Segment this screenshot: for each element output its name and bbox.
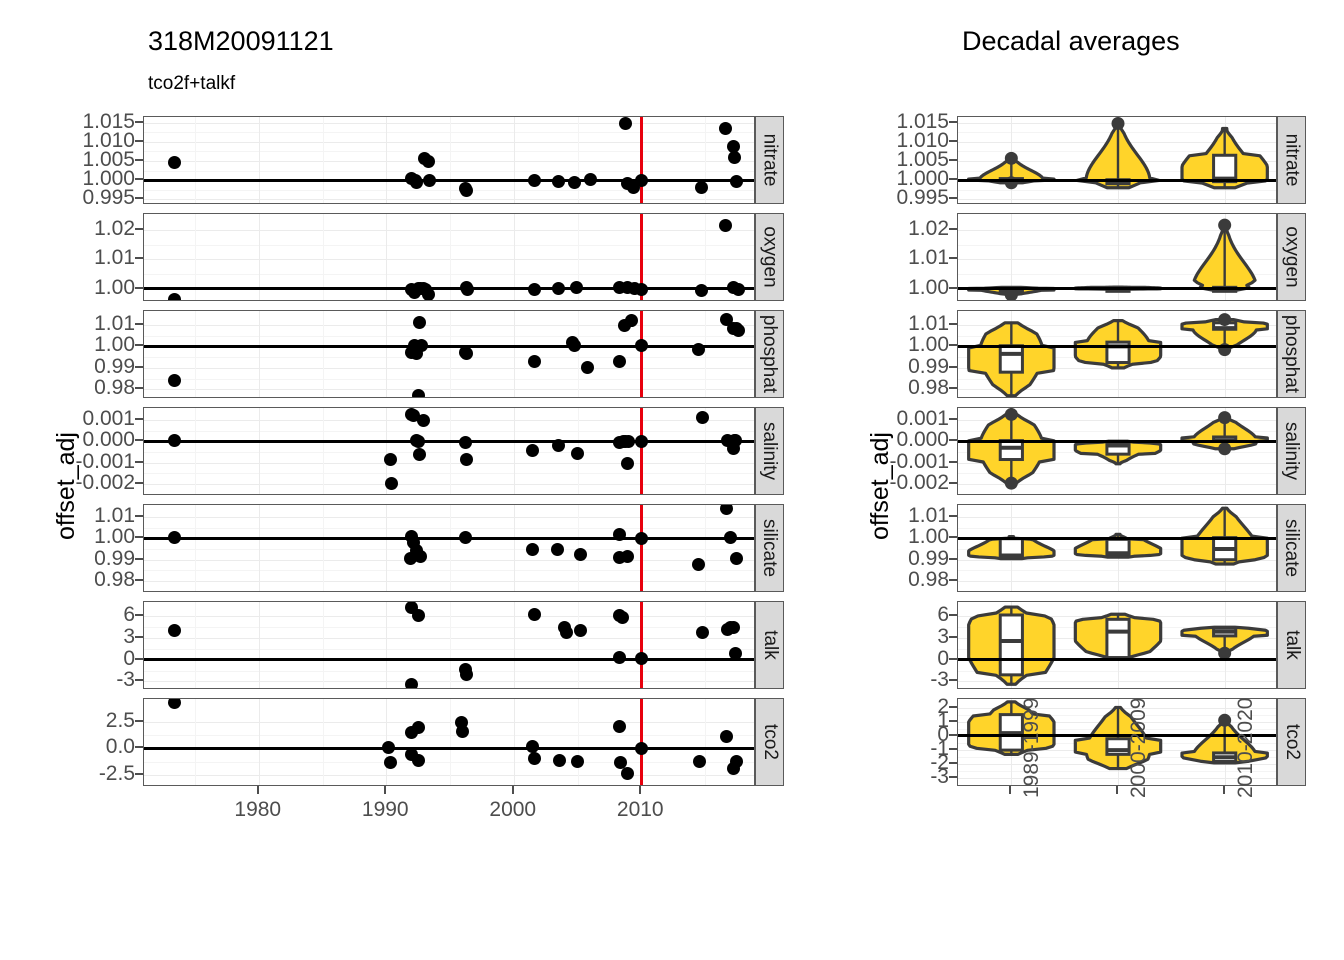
y-tick-mark [949, 418, 957, 420]
data-point [528, 608, 541, 621]
y-tick-label: -0.002 [839, 471, 949, 495]
strip-label-text: tco2 [1281, 724, 1303, 760]
y-tick-label: 0.98 [25, 376, 135, 400]
y-tick-label: 0.99 [839, 547, 949, 571]
grid-line-vertical [259, 117, 260, 203]
data-point [422, 155, 435, 168]
grid-line-horizontal [144, 325, 754, 326]
data-point [551, 543, 564, 556]
highlight-year-line [640, 311, 643, 397]
y-tick-label: 3 [839, 625, 949, 649]
x-tick-mark [384, 786, 386, 794]
y-tick-mark [135, 482, 143, 484]
grid-line-vertical-minor [450, 311, 451, 397]
y-tick-label: 2.5 [25, 709, 135, 733]
strip-label-salinity-decadal: salinity [1277, 407, 1306, 495]
figure-root: 318M20091121 tco2f+talkf Decadal average… [0, 0, 1344, 960]
reference-line [144, 747, 754, 750]
data-point [385, 477, 398, 490]
data-point [460, 184, 473, 197]
y-tick-label: 0 [839, 647, 949, 671]
data-point [459, 531, 472, 544]
y-tick-label: 0.000 [25, 428, 135, 452]
data-point [581, 361, 594, 374]
violin-nitrate-2000-2009 [1077, 117, 1159, 188]
data-point [613, 720, 626, 733]
grid-line-vertical [259, 602, 260, 688]
grid-line-vertical-minor [195, 408, 196, 494]
data-point [168, 374, 181, 387]
grid-line-vertical [259, 408, 260, 494]
data-point [415, 339, 428, 352]
grid-line-horizontal [144, 259, 754, 260]
reference-line [144, 658, 754, 661]
data-point [552, 282, 565, 295]
x-tick-label: 1980 [234, 798, 281, 822]
grid-line-vertical [514, 408, 515, 494]
data-point [584, 173, 597, 186]
reference-line [958, 287, 1276, 290]
reference-line [144, 179, 754, 182]
y-tick-label: 1.01 [25, 312, 135, 336]
y-tick-label: 1.02 [25, 217, 135, 241]
grid-line-horizontal-minor [144, 473, 754, 474]
data-point [613, 355, 626, 368]
data-point [732, 283, 745, 296]
grid-line-vertical-minor [578, 117, 579, 203]
grid-line-horizontal [144, 142, 754, 143]
data-point [168, 434, 181, 447]
data-point [635, 652, 648, 665]
grid-line-horizontal [144, 681, 754, 682]
violin-group-tco2 [958, 699, 1277, 786]
data-point [730, 552, 743, 565]
boxplot-box [1107, 619, 1129, 657]
data-point [412, 435, 425, 448]
strip-label-text: phosphat [759, 315, 781, 393]
y-tick-mark [949, 706, 957, 708]
y-tick-label: 0.99 [25, 547, 135, 571]
grid-line-vertical [514, 505, 515, 591]
y-tick-label: 0.99 [839, 355, 949, 379]
y-tick-label: -3 [839, 668, 949, 692]
y-tick-mark [949, 558, 957, 560]
violin-salinity-2000-2009 [1075, 441, 1160, 464]
grid-line-horizontal [144, 484, 754, 485]
y-tick-mark [949, 536, 957, 538]
reference-line [958, 537, 1276, 540]
grid-line-horizontal [144, 463, 754, 464]
data-point [382, 741, 395, 754]
grid-line-horizontal [144, 368, 754, 369]
right-panel-title: Decadal averages [962, 26, 1180, 57]
y-tick-label: 1.01 [839, 312, 949, 336]
outlier-point [1112, 117, 1125, 130]
y-tick-label: -3 [839, 765, 949, 789]
data-point [423, 174, 436, 187]
data-point [528, 752, 541, 765]
grid-line-horizontal-minor [144, 151, 754, 152]
grid-line-horizontal [144, 199, 754, 200]
violin-talk-2000-2009 [1075, 614, 1160, 658]
grid-line-horizontal-minor [144, 245, 754, 246]
y-tick-mark [135, 679, 143, 681]
data-point [168, 156, 181, 169]
data-point [729, 647, 742, 660]
grid-line-horizontal [144, 161, 754, 162]
data-point [692, 343, 705, 356]
data-point [528, 174, 541, 187]
data-point [552, 175, 565, 188]
strip-label-talk-timeseries: talk [755, 601, 784, 689]
grid-line-vertical-minor [195, 117, 196, 203]
data-point [727, 621, 740, 634]
reference-line [958, 734, 1276, 737]
y-tick-mark [949, 366, 957, 368]
plot-panel-silicate-decadal [957, 504, 1277, 592]
grid-line-vertical-minor [705, 602, 706, 688]
grid-line-horizontal [144, 420, 754, 421]
boxplot-box [1000, 615, 1022, 675]
data-point [574, 624, 587, 637]
grid-line-horizontal-minor [144, 549, 754, 550]
strip-label-phosphat-timeseries: phosphat [755, 310, 784, 398]
grid-line-horizontal-minor [144, 379, 754, 380]
y-tick-mark [135, 197, 143, 199]
data-point [728, 151, 741, 164]
y-tick-label: -0.001 [25, 450, 135, 474]
y-tick-label: 6 [839, 603, 949, 627]
y-tick-mark [949, 344, 957, 346]
grid-line-vertical-minor [323, 117, 324, 203]
y-tick-mark [949, 614, 957, 616]
data-point [560, 626, 573, 639]
data-point [635, 532, 648, 545]
grid-line-vertical-minor [450, 408, 451, 494]
strip-label-silicate-decadal: silicate [1277, 504, 1306, 592]
data-point [413, 448, 426, 461]
y-tick-mark [135, 121, 143, 123]
grid-line-horizontal [144, 638, 754, 639]
outlier-point [1218, 219, 1231, 232]
data-point [720, 504, 733, 515]
plot-panel-nitrate-decadal [957, 116, 1277, 204]
grid-line-vertical [259, 699, 260, 785]
data-point [570, 281, 583, 294]
y-tick-mark [135, 140, 143, 142]
grid-line-horizontal [144, 560, 754, 561]
y-tick-label: 0.995 [25, 186, 135, 210]
grid-line-horizontal-minor [144, 735, 754, 736]
data-point [635, 174, 648, 187]
strip-label-text: salinity [759, 422, 781, 480]
violin-group-silicate [958, 505, 1277, 592]
y-tick-mark [949, 228, 957, 230]
y-tick-label: 0.000 [839, 428, 949, 452]
y-tick-mark [135, 159, 143, 161]
grid-line-vertical-minor [323, 311, 324, 397]
plot-panel-oxygen-timeseries [143, 213, 755, 301]
grid-line-horizontal-minor [144, 452, 754, 453]
data-point [621, 550, 634, 563]
outlier-point [1005, 288, 1018, 301]
data-point [635, 435, 648, 448]
highlight-year-line [640, 602, 643, 688]
grid-line-vertical-minor [578, 311, 579, 397]
strip-label-phosphat-decadal: phosphat [1277, 310, 1306, 398]
strip-label-talk-decadal: talk [1277, 601, 1306, 689]
grid-line-vertical-minor [578, 602, 579, 688]
grid-line-horizontal-minor [144, 649, 754, 650]
violin-silicate-1989-1999 [969, 537, 1054, 559]
plot-panel-tco2-decadal [957, 698, 1277, 786]
outlier-point [1218, 411, 1231, 424]
y-tick-mark [949, 734, 957, 736]
outlier-point [1005, 152, 1018, 165]
y-tick-mark [135, 536, 143, 538]
data-point [568, 339, 581, 352]
plot-panel-silicate-timeseries [143, 504, 755, 592]
data-point [622, 435, 635, 448]
data-point [456, 725, 469, 738]
strip-label-salinity-timeseries: salinity [755, 407, 784, 495]
strip-label-silicate-timeseries: silicate [755, 504, 784, 592]
data-point [526, 444, 539, 457]
plot-panel-phosphat-decadal [957, 310, 1277, 398]
boxplot-box [1000, 346, 1022, 372]
y-tick-label: 6 [25, 603, 135, 627]
y-tick-mark [949, 679, 957, 681]
y-tick-mark [135, 418, 143, 420]
data-point [719, 219, 732, 232]
plot-panel-talk-decadal [957, 601, 1277, 689]
y-tick-mark [949, 461, 957, 463]
y-tick-mark [949, 121, 957, 123]
grid-line-horizontal-minor [144, 336, 754, 337]
x-tick-mark [1009, 786, 1011, 794]
strip-label-text: talk [1281, 630, 1303, 660]
grid-line-horizontal-minor [144, 132, 754, 133]
plot-panel-salinity-timeseries [143, 407, 755, 495]
grid-line-horizontal-minor [144, 190, 754, 191]
y-tick-mark [135, 636, 143, 638]
outlier-point [1218, 313, 1231, 326]
data-point [613, 528, 626, 541]
plot-panel-phosphat-timeseries [143, 310, 755, 398]
y-tick-mark [135, 614, 143, 616]
data-point [168, 698, 181, 709]
grid-line-vertical-minor [323, 602, 324, 688]
data-point [635, 742, 648, 755]
grid-line-vertical-minor [323, 505, 324, 591]
y-tick-mark [949, 636, 957, 638]
reference-line [144, 287, 754, 290]
violin-talk-2010-2020 [1182, 627, 1267, 659]
grid-line-vertical-minor [195, 505, 196, 591]
data-point [413, 316, 426, 329]
outlier-point [1005, 408, 1018, 421]
grid-line-horizontal [144, 123, 754, 124]
data-point [422, 288, 435, 301]
grid-line-horizontal [144, 230, 754, 231]
strip-label-text: salinity [1281, 422, 1303, 480]
data-point [732, 324, 745, 337]
y-tick-label: 3 [25, 625, 135, 649]
y-tick-mark [949, 515, 957, 517]
data-point [720, 730, 733, 743]
y-tick-mark [949, 140, 957, 142]
grid-line-horizontal-minor [144, 274, 754, 275]
data-point [526, 543, 539, 556]
data-point [405, 678, 418, 689]
y-tick-label: -2.5 [25, 762, 135, 786]
y-tick-mark [135, 579, 143, 581]
data-point [553, 754, 566, 767]
left-panel-title: 318M20091121 [148, 26, 334, 57]
data-point [410, 176, 423, 189]
grid-line-vertical [386, 311, 387, 397]
y-tick-label: 1.01 [839, 504, 949, 528]
y-tick-mark [135, 720, 143, 722]
y-tick-label: -3 [25, 668, 135, 692]
data-point [730, 175, 743, 188]
plot-panel-salinity-decadal [957, 407, 1277, 495]
violin-phosphat-1989-1999 [969, 323, 1054, 396]
grid-line-horizontal-minor [144, 431, 754, 432]
data-point [526, 740, 539, 753]
violin-salinity-1989-1999 [969, 408, 1054, 490]
y-tick-mark [135, 323, 143, 325]
data-point [459, 436, 472, 449]
grid-line-vertical [514, 311, 515, 397]
grid-line-horizontal [144, 581, 754, 582]
grid-line-vertical [514, 699, 515, 785]
x-tick-label: 2000 [489, 798, 536, 822]
grid-line-vertical-minor [323, 408, 324, 494]
plot-panel-talk-timeseries [143, 601, 755, 689]
data-point [625, 314, 638, 327]
data-point [528, 283, 541, 296]
violin-phosphat-2010-2020 [1182, 313, 1267, 356]
y-tick-label: 0.0 [25, 735, 135, 759]
data-point [168, 293, 181, 301]
y-tick-mark [135, 746, 143, 748]
y-tick-label: 1.00 [839, 525, 949, 549]
y-tick-label: 0.001 [25, 407, 135, 431]
grid-line-vertical [514, 117, 515, 203]
data-point [460, 668, 473, 681]
y-tick-label: 0.98 [839, 568, 949, 592]
grid-line-vertical-minor [323, 699, 324, 785]
plot-panel-oxygen-decadal [957, 213, 1277, 301]
data-point [168, 531, 181, 544]
y-tick-label: 1.00 [839, 333, 949, 357]
y-tick-mark [949, 579, 957, 581]
y-tick-mark [135, 558, 143, 560]
y-tick-label: 1.00 [839, 276, 949, 300]
y-tick-label: 1.00 [25, 333, 135, 357]
y-tick-label: 0.99 [25, 355, 135, 379]
grid-line-horizontal [144, 616, 754, 617]
y-tick-label: -0.002 [25, 471, 135, 495]
grid-line-vertical-minor [450, 117, 451, 203]
violin-salinity-2010-2020 [1182, 411, 1267, 455]
grid-line-horizontal-minor [144, 528, 754, 529]
grid-line-horizontal-minor [144, 762, 754, 763]
strip-label-oxygen-decadal: oxygen [1277, 213, 1306, 301]
grid-line-vertical [386, 117, 387, 203]
violin-talk-1989-1999 [969, 607, 1054, 684]
strip-label-text: oxygen [1281, 226, 1303, 287]
y-tick-mark [135, 515, 143, 517]
data-point [695, 181, 708, 194]
plot-panel-nitrate-timeseries [143, 116, 755, 204]
grid-line-horizontal-minor [144, 171, 754, 172]
highlight-year-line [640, 408, 643, 494]
data-point [384, 756, 397, 769]
violin-oxygen-2010-2020 [1194, 219, 1255, 292]
violin-group-nitrate [958, 117, 1277, 204]
strip-label-text: nitrate [759, 134, 781, 187]
grid-line-vertical-minor [195, 311, 196, 397]
strip-label-nitrate-timeseries: nitrate [755, 116, 784, 204]
grid-line-horizontal [144, 517, 754, 518]
boxplot-box [1000, 441, 1022, 460]
y-tick-mark [949, 482, 957, 484]
data-point [696, 411, 709, 424]
reference-line [958, 440, 1276, 443]
y-tick-mark [949, 658, 957, 660]
outlier-point [1218, 442, 1231, 455]
x-tick-mark [1116, 786, 1118, 794]
x-tick-label-decade: 2010-2020 [1234, 698, 1258, 798]
strip-label-text: silicate [1281, 519, 1303, 577]
y-tick-label: 0 [25, 647, 135, 671]
y-tick-label: 0.001 [839, 407, 949, 431]
data-point [695, 284, 708, 297]
y-tick-label: 0.995 [839, 186, 949, 210]
grid-line-vertical-minor [578, 699, 579, 785]
y-tick-mark [949, 748, 957, 750]
data-point [552, 439, 565, 452]
strip-label-text: phosphat [1281, 315, 1303, 393]
reference-line [958, 179, 1276, 182]
grid-line-vertical-minor [450, 699, 451, 785]
y-tick-mark [949, 159, 957, 161]
y-tick-label: -0.001 [839, 450, 949, 474]
data-point [616, 611, 629, 624]
data-point [384, 453, 397, 466]
grid-line-vertical [259, 505, 260, 591]
grid-line-vertical-minor [450, 505, 451, 591]
strip-label-oxygen-timeseries: oxygen [755, 213, 784, 301]
strip-label-text: oxygen [759, 226, 781, 287]
plot-panel-tco2-timeseries [143, 698, 755, 786]
grid-line-vertical-minor [705, 699, 706, 785]
y-tick-label: 1.00 [25, 525, 135, 549]
data-point [692, 558, 705, 571]
y-tick-mark [135, 257, 143, 259]
strip-label-text: tco2 [759, 724, 781, 760]
data-point [461, 283, 474, 296]
y-tick-mark [949, 178, 957, 180]
grid-line-horizontal-minor [144, 671, 754, 672]
y-tick-mark [135, 658, 143, 660]
violin-group-talk [958, 602, 1277, 689]
grid-line-horizontal [144, 722, 754, 723]
grid-line-vertical-minor [195, 602, 196, 688]
left-panel-subtitle: tco2f+talkf [148, 73, 235, 95]
